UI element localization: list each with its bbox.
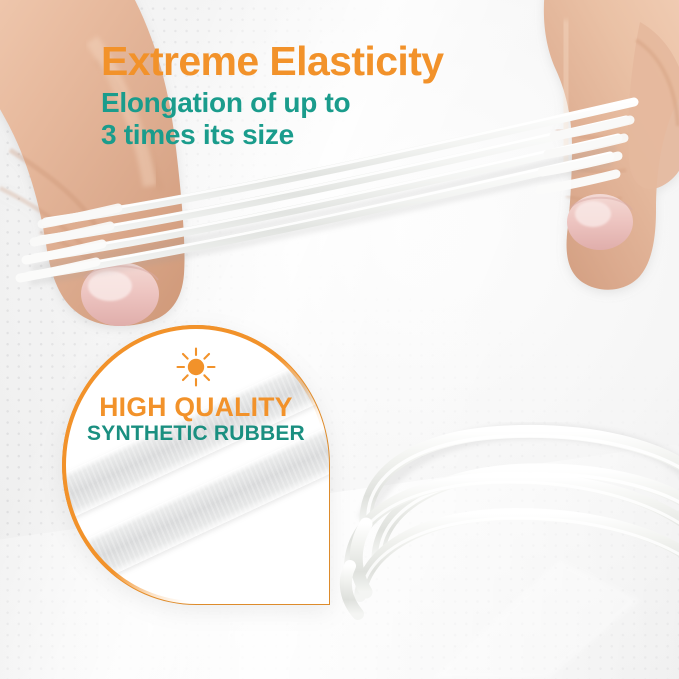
quality-badge: HIGH QUALITY SYNTHETIC RUBBER xyxy=(62,325,330,605)
sun-icon xyxy=(174,345,218,389)
badge-title: HIGH QUALITY xyxy=(62,393,330,421)
badge-content: HIGH QUALITY SYNTHETIC RUBBER xyxy=(62,345,330,445)
headline-subtitle-line-1: Elongation of up to xyxy=(101,87,531,120)
headline-block: Extreme Elasticity Elongation of up to 3… xyxy=(101,40,531,152)
headline-subtitle-line-2: 3 times its size xyxy=(101,119,531,152)
headline-title: Extreme Elasticity xyxy=(101,40,531,83)
headline-subtitle: Elongation of up to 3 times its size xyxy=(101,87,531,153)
badge-subtitle: SYNTHETIC RUBBER xyxy=(62,422,330,445)
product-feature-image: Extreme Elasticity Elongation of up to 3… xyxy=(0,0,679,679)
